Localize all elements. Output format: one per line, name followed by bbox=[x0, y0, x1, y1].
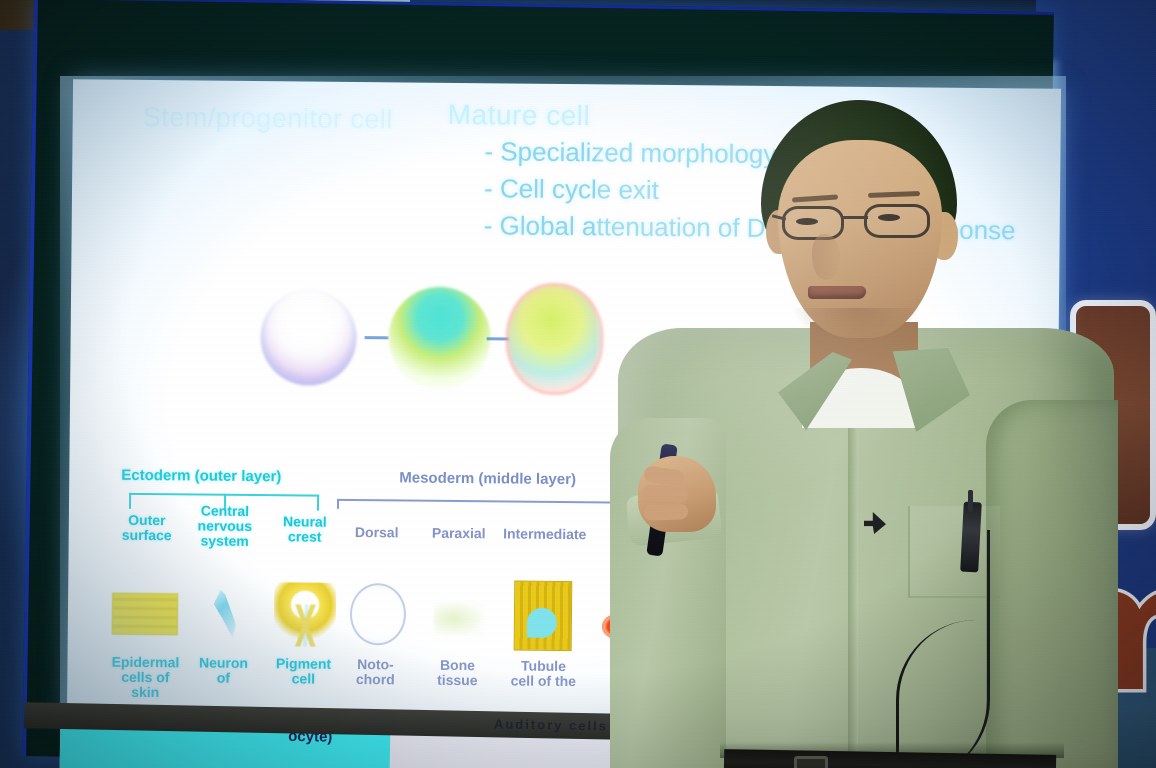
arrow-right-icon bbox=[487, 337, 511, 340]
column-cell-name: Tubule cell of the bbox=[491, 658, 595, 689]
diagram-column: Central nervous system Neuron of bbox=[185, 465, 265, 466]
skin-sheet-icon bbox=[106, 575, 187, 650]
embryo-stage-gastrula-icon bbox=[388, 286, 491, 389]
tubule-cell-icon bbox=[492, 578, 597, 653]
presenter bbox=[596, 100, 1116, 768]
neuron-icon bbox=[184, 575, 265, 650]
column-cell-name: Neuron of bbox=[183, 655, 263, 686]
bone-tissue-icon bbox=[418, 578, 499, 653]
column-cell-name: Pigment cell bbox=[263, 656, 343, 687]
diagram-column: Outer surface Epidermal cells of skin bbox=[107, 465, 187, 466]
presenter-mouth bbox=[808, 286, 866, 299]
notochord-icon bbox=[336, 577, 417, 652]
finger bbox=[641, 484, 688, 503]
ectoderm-heading: Ectoderm (outer layer) bbox=[121, 467, 281, 486]
arrow-right-icon bbox=[365, 336, 389, 339]
column-sublabel: Outer surface bbox=[107, 513, 187, 544]
slide-title-left: Stem/progenitor cell bbox=[143, 102, 393, 135]
presenter-right-arm bbox=[986, 400, 1118, 768]
belt-buckle bbox=[794, 756, 828, 768]
mesoderm-heading: Mesoderm (middle layer) bbox=[399, 469, 576, 488]
column-sublabel: Paraxial bbox=[419, 526, 499, 542]
column-sublabel: Intermediate bbox=[493, 526, 597, 542]
diagram-column: Dorsal Noto- chord bbox=[337, 467, 417, 468]
slide-title-right: Mature cell bbox=[448, 99, 591, 132]
wireless-transmitter bbox=[960, 502, 982, 573]
glasses-bridge bbox=[842, 216, 868, 219]
diagram-column: Neural crest Pigment cell bbox=[265, 466, 345, 467]
diagram-column: Paraxial Bone tissue bbox=[419, 468, 499, 469]
column-cell-name: Epidermal cells of skin bbox=[105, 655, 185, 701]
bottom-bar-text: Auditory cells bbox=[494, 716, 608, 733]
column-cell-name: Bone tissue bbox=[417, 658, 497, 689]
lens-left bbox=[782, 206, 844, 240]
embryo-development-row bbox=[260, 281, 601, 394]
pigment-cell-icon bbox=[264, 576, 345, 651]
diagram-column: Intermediate Tubule cell of the bbox=[493, 468, 597, 469]
embryo-stage-blastocyst-icon bbox=[260, 289, 357, 386]
column-sublabel: Dorsal bbox=[337, 525, 417, 541]
lens-right bbox=[864, 204, 930, 238]
lecture-photo-scene: mf Stem/progenitor cell Mature cell - Sp… bbox=[0, 0, 1156, 768]
transmitter-antenna bbox=[968, 490, 973, 512]
column-sublabel: Neural crest bbox=[265, 514, 345, 545]
embryo-stage-embryo-icon bbox=[508, 285, 601, 392]
eyeglasses-icon bbox=[772, 204, 958, 244]
shirt-button-placket bbox=[848, 422, 858, 752]
chin-shadow bbox=[792, 308, 920, 342]
finger bbox=[644, 503, 689, 521]
column-sublabel: Central nervous system bbox=[185, 503, 265, 549]
column-cell-name: Noto- chord bbox=[335, 657, 415, 688]
presenter-nose bbox=[812, 234, 840, 280]
